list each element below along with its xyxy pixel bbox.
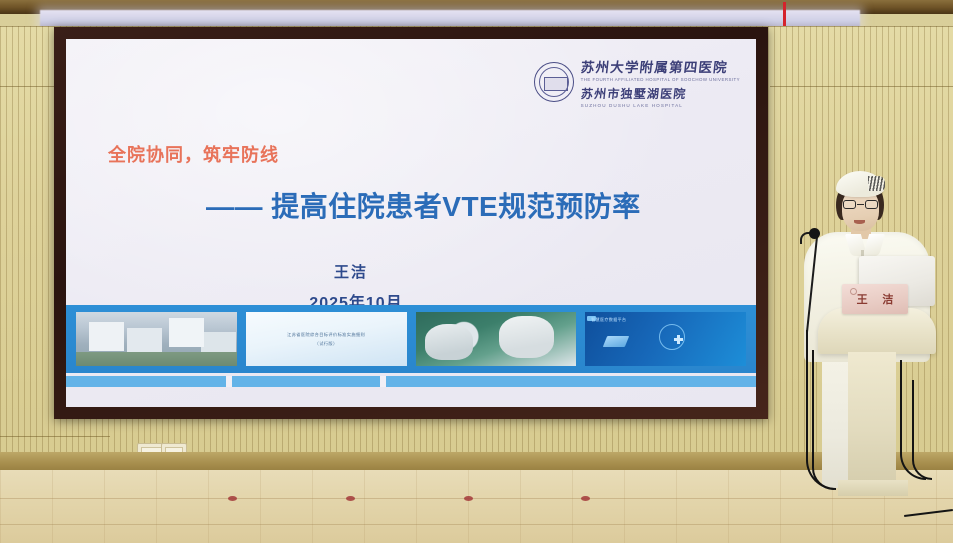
hospital-seal-icon	[534, 62, 574, 102]
wall-tick-left	[0, 86, 54, 87]
slide-accent-bar	[66, 376, 756, 387]
medical-cross-icon	[674, 335, 683, 344]
floor-plank-seam	[0, 498, 953, 499]
power-cable	[812, 350, 834, 490]
nameplate-seal-icon	[850, 288, 857, 295]
logo-chinese-primary: 苏州大学附属第四医院	[580, 56, 741, 76]
floor-marker-dot	[464, 496, 473, 501]
glasses-lens-right	[865, 200, 878, 209]
hospital-logo-text: 苏州大学附属第四医院 THE FOURTH AFFILIATED HOSPITA…	[581, 56, 740, 108]
floor-plank-seam	[0, 524, 953, 525]
floor-marker-dot	[228, 496, 237, 501]
projection-screen-frame: 苏州大学附属第四医院 THE FOURTH AFFILIATED HOSPITA…	[54, 27, 768, 419]
tablet-device-icon	[602, 336, 628, 347]
hospital-logo: 苏州大学附属第四医院 THE FOURTH AFFILIATED HOSPITA…	[534, 56, 740, 108]
ceiling-red-marker	[783, 2, 786, 28]
document-line-1: 江苏省医院综合目标评价标准实施细则	[287, 332, 365, 338]
accent-bar-gap	[380, 376, 386, 387]
presenter-mouth	[854, 220, 865, 224]
glasses-icon	[843, 200, 878, 210]
slide-main-title: —— 提高住院患者VTE规范预防率	[206, 185, 641, 225]
slide-subtitle: 全院协同，筑牢防线	[108, 141, 279, 167]
floor-marker-dot	[581, 496, 590, 501]
presentation-slide[interactable]: 苏州大学附属第四医院 THE FOURTH AFFILIATED HOSPITA…	[66, 39, 756, 407]
presenter-nameplate: 王 洁	[842, 284, 908, 314]
slide-presenter-name: 王洁	[66, 261, 756, 282]
wall-tick-left-lower	[0, 436, 110, 437]
digital-healthcare-graphic: 智慧医疗数据平台	[585, 312, 746, 366]
logo-english-primary: THE FOURTH AFFILIATED HOSPITAL OF SOOCHO…	[581, 77, 740, 82]
accent-bar-gap	[226, 376, 232, 387]
podium-column	[848, 352, 896, 482]
microphone-icon[interactable]	[809, 228, 820, 239]
wooden-floor	[0, 470, 953, 543]
nurse-cap-stripe	[868, 176, 885, 191]
policy-document-image: 江苏省医院综合目标评价标准实施细则 （试行版）	[246, 312, 407, 366]
presentation-photo-scene: 苏州大学附属第四医院 THE FOURTH AFFILIATED HOSPITA…	[0, 0, 953, 543]
digital-graphic-caption: 智慧医疗数据平台	[591, 317, 626, 323]
document-line-2: （试行版）	[315, 341, 338, 347]
logo-english-secondary: SUZHOU DUSHU LAKE HOSPITAL	[581, 103, 740, 108]
slide-image-strip: 江苏省医院综合目标评价标准实施细则 （试行版） 智慧医疗数据平台	[66, 305, 756, 373]
surgery-operating-room-photo	[416, 312, 577, 366]
glasses-lens-left	[843, 200, 856, 209]
wall-tick-right	[770, 86, 953, 87]
power-cable	[912, 380, 932, 480]
podium-base	[838, 480, 908, 496]
logo-chinese-secondary: 苏州市独墅湖医院	[580, 85, 741, 102]
glasses-bridge	[857, 204, 864, 205]
floor-marker-dot	[346, 496, 355, 501]
hospital-campus-photo	[76, 312, 237, 366]
nameplate-text: 王 洁	[851, 291, 900, 307]
